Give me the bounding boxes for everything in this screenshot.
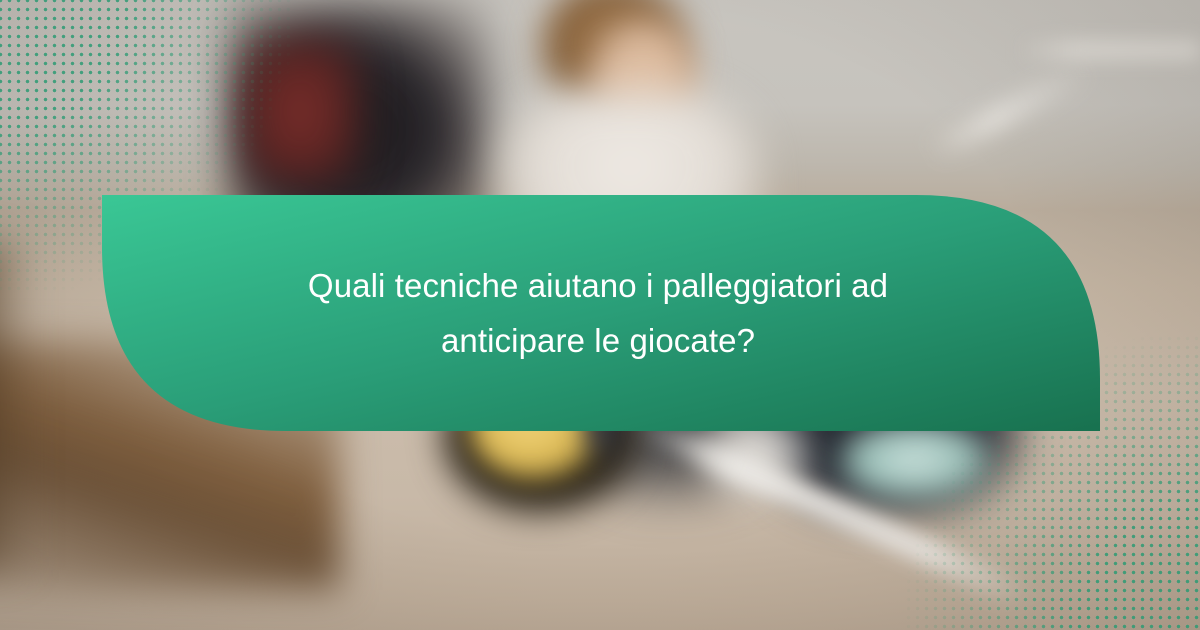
question-text: Quali tecniche aiutano i palleggiatori a… — [96, 194, 1100, 432]
question-text-line-2: anticipare le giocate? — [441, 313, 755, 368]
question-text-line-1: Quali tecniche aiutano i palleggiatori a… — [308, 258, 888, 313]
question-card: Quali tecniche aiutano i palleggiatori a… — [0, 0, 1200, 630]
